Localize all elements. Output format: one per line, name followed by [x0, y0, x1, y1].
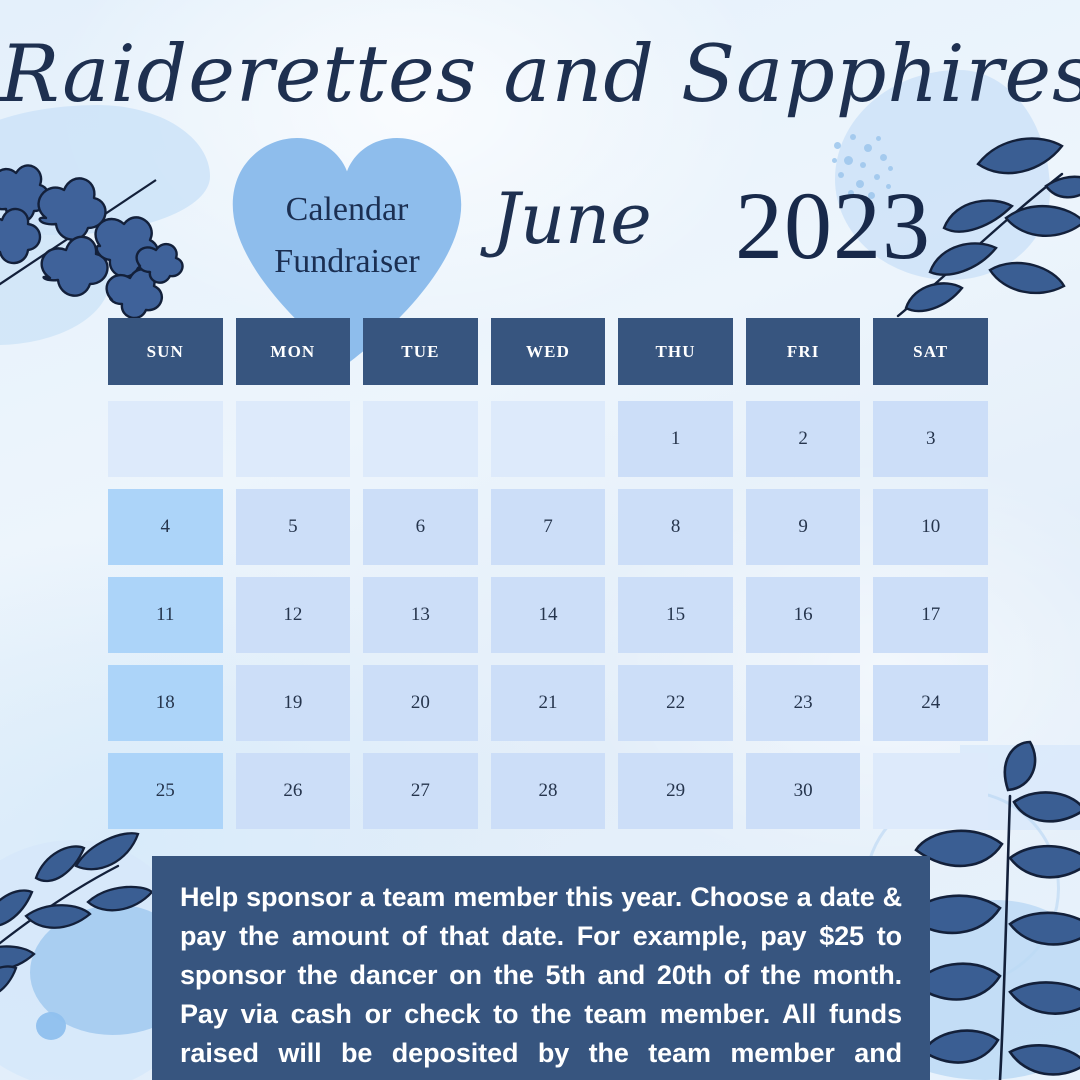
- calendar-cell-day[interactable]: 11: [108, 577, 223, 653]
- calendar-days-body: 1234567891011121314151617181920212223242…: [108, 401, 988, 829]
- calendar-cell-empty: [363, 401, 478, 477]
- calendar-cell-day[interactable]: 29: [618, 753, 733, 829]
- sponsorship-message: Help sponsor a team member this year. Ch…: [152, 856, 930, 1080]
- calendar-weekday-header-row: SUNMONTUEWEDTHUFRISAT: [108, 318, 988, 385]
- weekday-header-wed: WED: [491, 318, 606, 385]
- calendar-cell-day[interactable]: 10: [873, 489, 988, 565]
- watercolor-blob-top-left-2: [0, 225, 110, 345]
- calendar-cell-day[interactable]: 6: [363, 489, 478, 565]
- calendar-cell-day[interactable]: 9: [746, 489, 861, 565]
- calendar-cell-day[interactable]: 12: [236, 577, 351, 653]
- calendar-cell-day[interactable]: 2: [746, 401, 861, 477]
- leaf-sprig-bottom-left-icon: [0, 818, 166, 1008]
- calendar-cell-day[interactable]: 22: [618, 665, 733, 741]
- calendar-cell-day[interactable]: 3: [873, 401, 988, 477]
- calendar-cell-day[interactable]: 5: [236, 489, 351, 565]
- calendar-cell-day[interactable]: 27: [363, 753, 478, 829]
- calendar-cell-day[interactable]: 30: [746, 753, 861, 829]
- calendar-cell-day[interactable]: 23: [746, 665, 861, 741]
- calendar-cell-day[interactable]: 7: [491, 489, 606, 565]
- weekday-header-mon: MON: [236, 318, 351, 385]
- watercolor-blob-top-left: [0, 105, 210, 235]
- heart-badge-text: Calendar Fundraiser: [228, 184, 466, 287]
- month-label: June: [492, 178, 652, 260]
- calendar-cell-day[interactable]: 8: [618, 489, 733, 565]
- calendar-cell-empty: [873, 753, 988, 829]
- calendar-cell-empty: [236, 401, 351, 477]
- heart-badge-line-2: Fundraiser: [228, 236, 466, 288]
- calendar-cell-day[interactable]: 14: [491, 577, 606, 653]
- weekday-header-sat: SAT: [873, 318, 988, 385]
- calendar-grid: SUNMONTUEWEDTHUFRISAT 123456789101112131…: [108, 318, 988, 829]
- calendar-cell-day[interactable]: 4: [108, 489, 223, 565]
- calendar-cell-day[interactable]: 1: [618, 401, 733, 477]
- calendar-cell-day[interactable]: 24: [873, 665, 988, 741]
- calendar-cell-day[interactable]: 17: [873, 577, 988, 653]
- watercolor-dot-bottom-left: [36, 1012, 66, 1040]
- poster-title: Raiderettes and Sapphires: [0, 28, 1080, 120]
- calendar-poster: Raiderettes and Sapphires Calendar Fundr…: [0, 0, 1080, 1080]
- weekday-header-fri: FRI: [746, 318, 861, 385]
- calendar-cell-day[interactable]: 18: [108, 665, 223, 741]
- calendar-cell-empty: [491, 401, 606, 477]
- year-label: 2023: [735, 170, 931, 281]
- calendar-cell-day[interactable]: 13: [363, 577, 478, 653]
- calendar-cell-day[interactable]: 28: [491, 753, 606, 829]
- weekday-header-tue: TUE: [363, 318, 478, 385]
- weekday-header-sun: SUN: [108, 318, 223, 385]
- calendar-cell-day[interactable]: 25: [108, 753, 223, 829]
- clover-branch-top-left-icon: [0, 140, 188, 330]
- heart-badge-line-1: Calendar: [228, 184, 466, 236]
- calendar-cell-empty: [108, 401, 223, 477]
- calendar-cell-day[interactable]: 20: [363, 665, 478, 741]
- calendar-cell-day[interactable]: 19: [236, 665, 351, 741]
- calendar-cell-day[interactable]: 15: [618, 577, 733, 653]
- calendar-cell-day[interactable]: 21: [491, 665, 606, 741]
- calendar-cell-day[interactable]: 16: [746, 577, 861, 653]
- calendar-cell-day[interactable]: 26: [236, 753, 351, 829]
- weekday-header-thu: THU: [618, 318, 733, 385]
